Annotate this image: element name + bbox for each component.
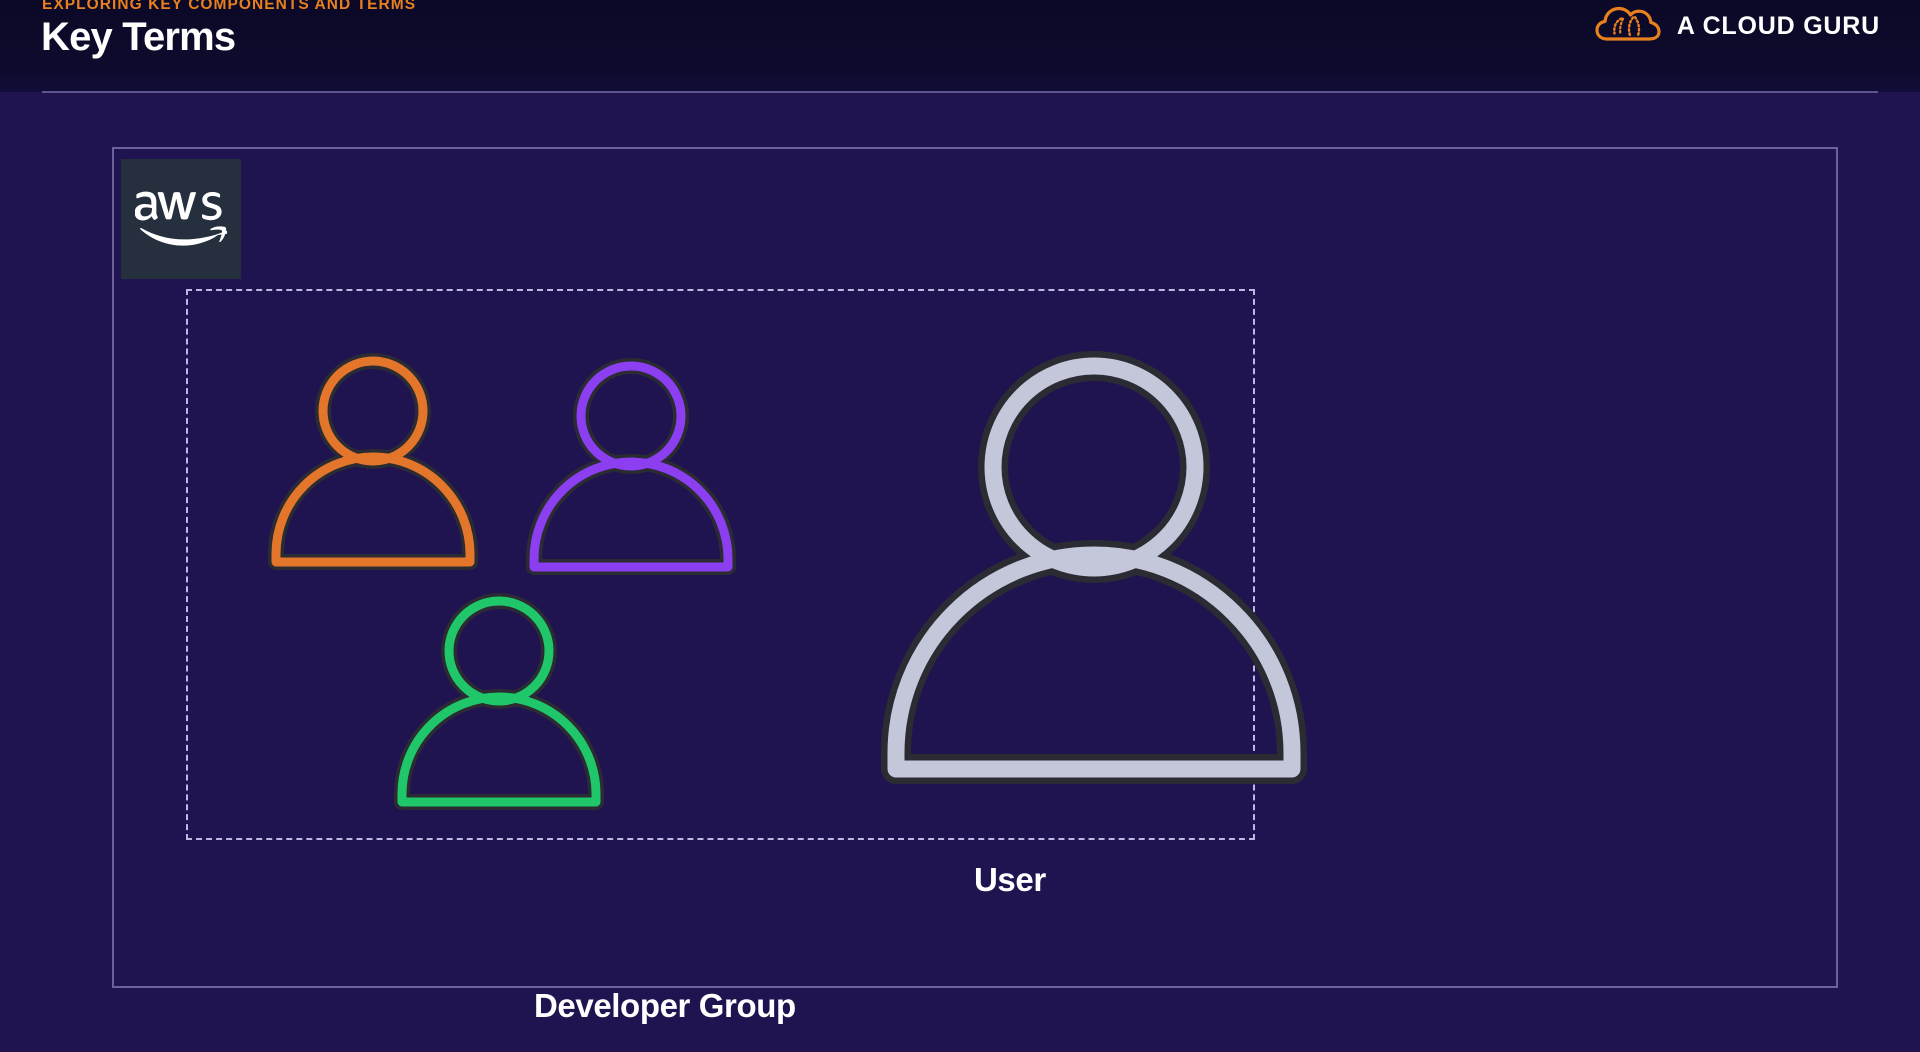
diagram-frame: User Developer Group	[112, 147, 1838, 988]
header-eyebrow: EXPLORING KEY COMPONENTS AND TERMS	[42, 0, 416, 14]
user-label: User	[974, 861, 1046, 899]
user-avatar-icon-principal	[854, 339, 1334, 794]
aws-logo-icon	[135, 190, 227, 248]
brand-name: A CLOUD GURU	[1677, 12, 1880, 41]
user-avatar-icon-green	[382, 589, 617, 814]
aws-provider-badge	[121, 159, 241, 279]
developer-group-label: Developer Group	[534, 987, 796, 1025]
page-title: Key Terms	[41, 15, 235, 60]
brand-logo: A CLOUD GURU	[1595, 6, 1880, 46]
header-divider	[42, 91, 1878, 93]
user-avatar-icon-orange	[256, 349, 491, 574]
cloud-outline-icon	[1595, 6, 1661, 46]
user-avatar-icon-purple	[514, 354, 749, 579]
